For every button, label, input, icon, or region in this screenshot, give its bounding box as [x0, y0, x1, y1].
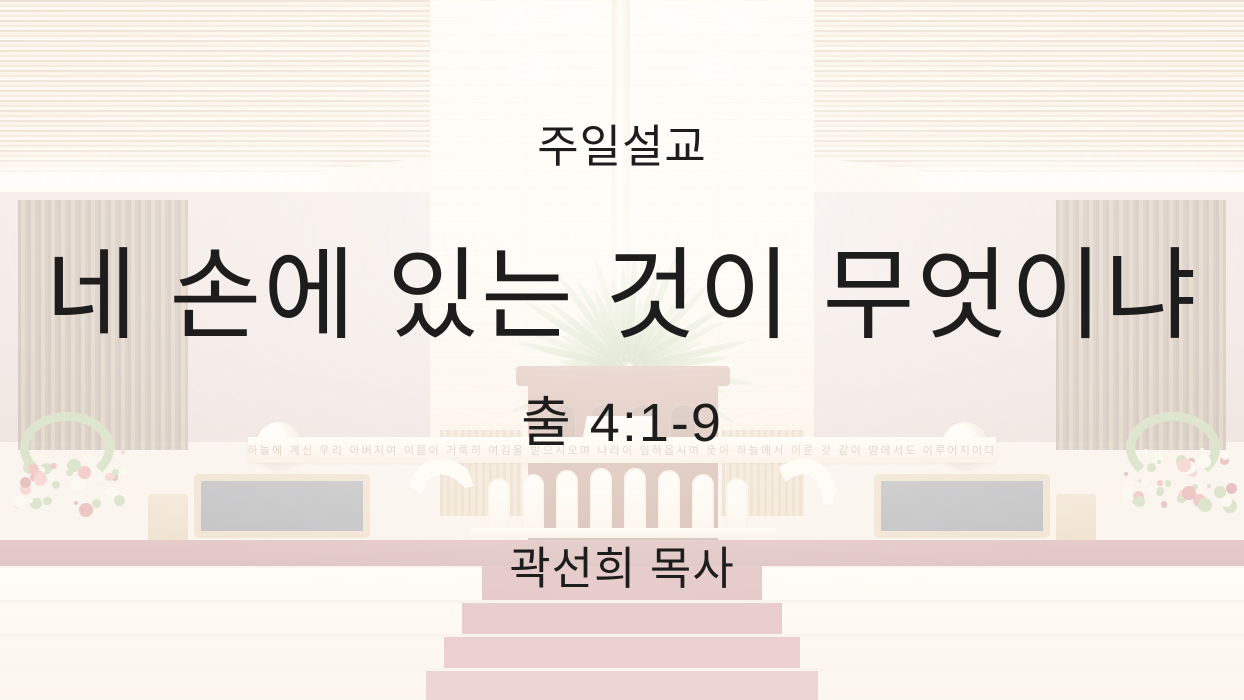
sermon-category-label: 주일설교 — [0, 124, 1244, 169]
preacher-name: 곽선희 목사 — [0, 546, 1244, 591]
scripture-reference: 출 4:1-9 — [0, 396, 1244, 450]
sermon-title-slide: 하늘에 계신 우리 아버지여 이름이 거룩히 여김을 받으시오며 나라이 임하옵… — [0, 0, 1244, 700]
slide-text-layer: 주일설교 네 손에 있는 것이 무엇이냐 출 4:1-9 곽선희 목사 — [0, 0, 1244, 700]
sermon-title: 네 손에 있는 것이 무엇이냐 — [0, 246, 1244, 346]
